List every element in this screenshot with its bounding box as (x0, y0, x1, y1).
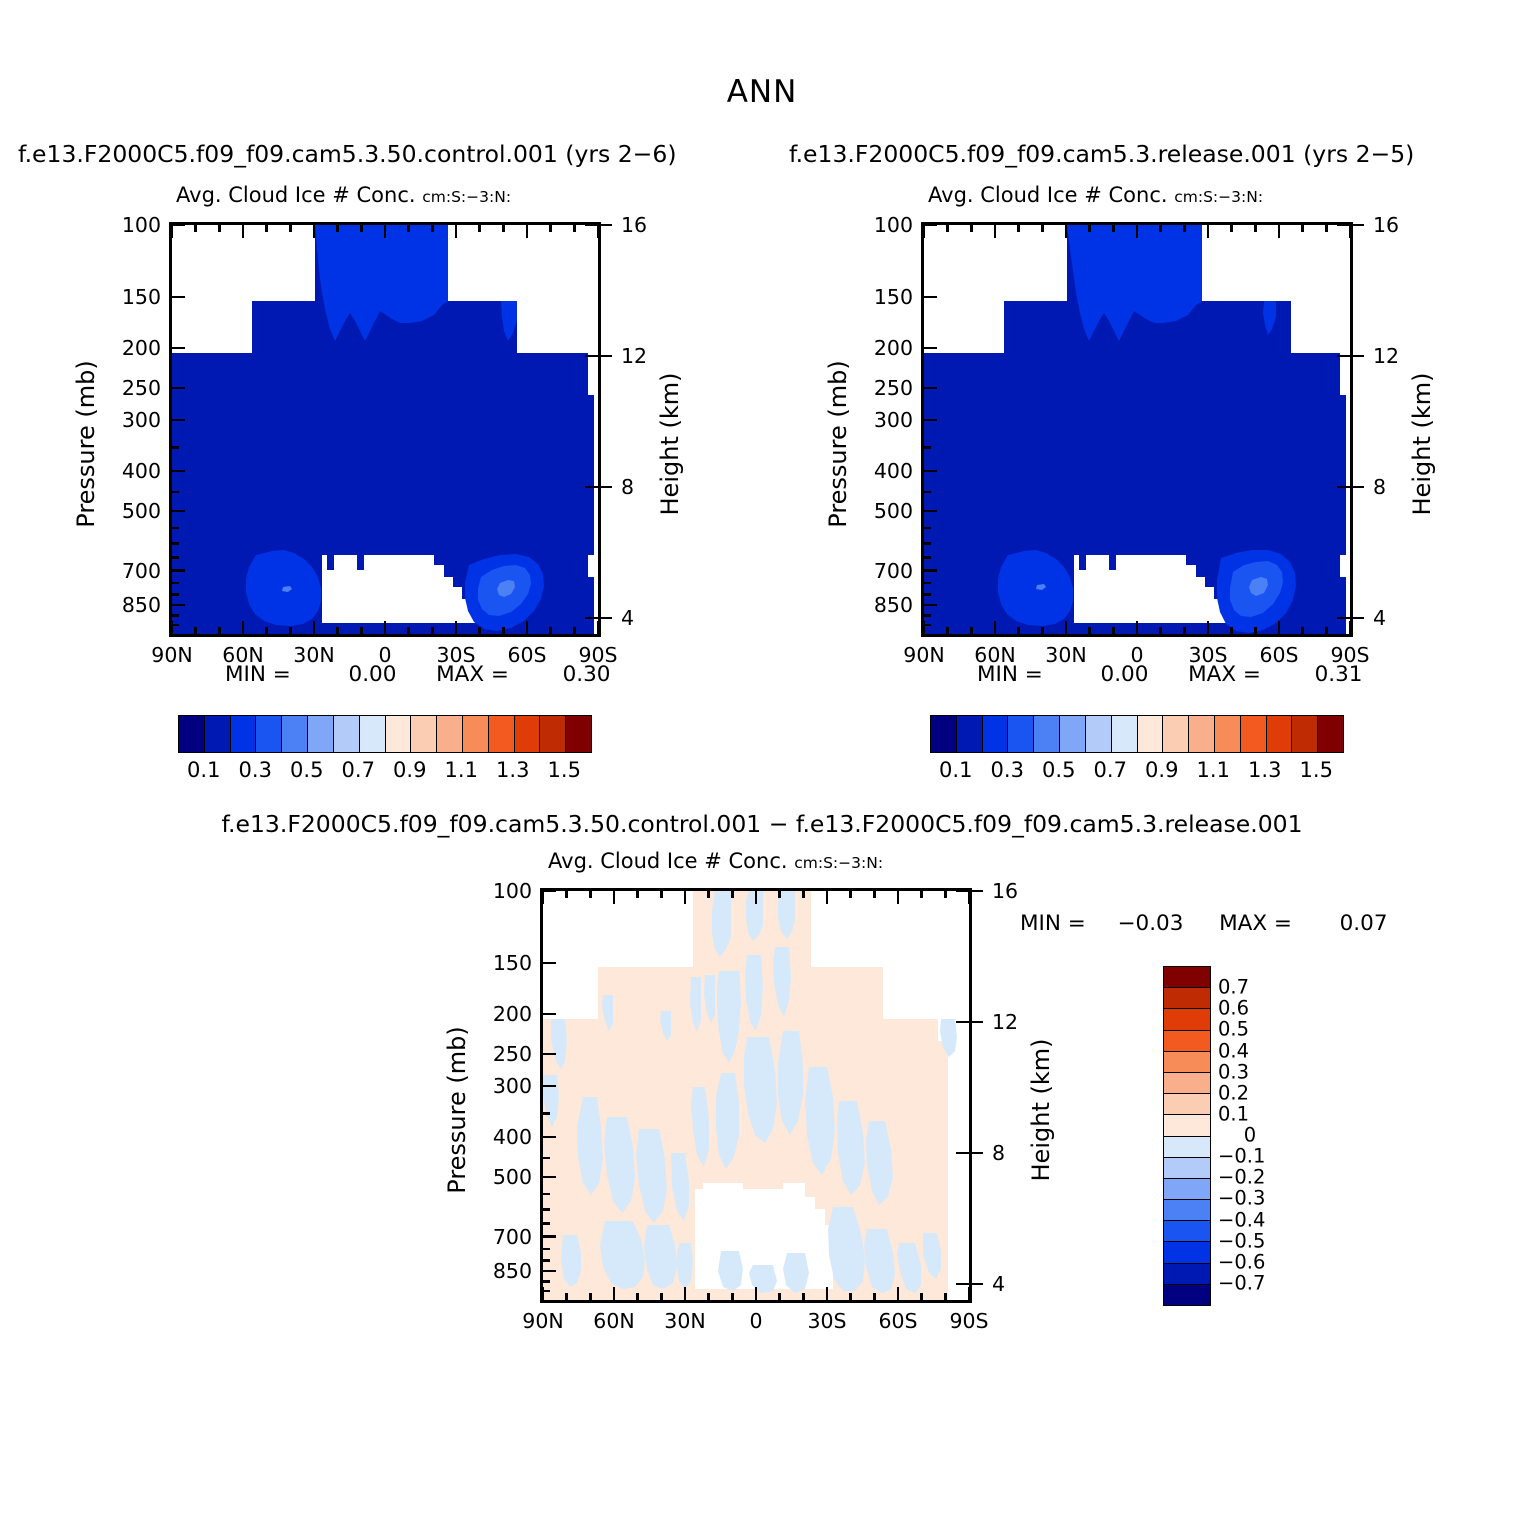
control-colorbar-cell[interactable] (463, 716, 489, 752)
right-panel-max-value: 0.31 (1315, 662, 1363, 687)
left-panel-minmax: MIN = 0.00 MAX = 0.30 (225, 662, 610, 687)
control-colorbar-tick-label: 1.1 (445, 758, 478, 782)
control-pressure-tick-label: 850 (103, 593, 161, 617)
x-tick-top (1159, 225, 1162, 232)
right-panel-y2-axis-label: Height (km) (1408, 344, 1436, 544)
y-tick-left (924, 527, 931, 530)
diff-panel-max-label: MAX = (1219, 911, 1292, 936)
y-tick-left (543, 1259, 550, 1262)
x-tick-top (1041, 225, 1044, 232)
x-tick-bot (826, 1287, 829, 1300)
x-tick-bot (897, 1287, 900, 1300)
difference-pressure-tick-label: 250 (474, 1042, 532, 1066)
control-colorbar-cell[interactable] (334, 716, 360, 752)
difference-colorbar-tick-label: −0.1 (1218, 1145, 1308, 1168)
release-colorbar-tick-label: 0.5 (1042, 758, 1075, 782)
difference-colorbar-cell[interactable] (1164, 1158, 1210, 1179)
x-tick-top (289, 225, 292, 232)
x-tick-top (1112, 225, 1115, 232)
diff-panel-variable-title: Avg. Cloud Ice # Conc. (548, 849, 788, 873)
release-colorbar-cell[interactable] (1112, 716, 1138, 752)
y-tick-left (172, 224, 185, 227)
difference-colorbar-cell[interactable] (1164, 1009, 1210, 1030)
difference-colorbar-tick-label: 0.4 (1218, 1039, 1308, 1062)
x-tick-top (1207, 225, 1210, 238)
y-tick-right-outer (598, 617, 612, 620)
y-tick-left (172, 387, 185, 390)
difference-pressure-tick-label: 400 (474, 1125, 532, 1149)
x-tick-bot (636, 1293, 639, 1300)
difference-colorbar-cell[interactable] (1164, 1052, 1210, 1073)
diff-panel-subtitle: Avg. Cloud Ice # Conc. cm:S:−3:N: (548, 849, 883, 873)
y-tick-left (543, 1280, 550, 1283)
difference-lat-tick-label: 0 (749, 1309, 762, 1333)
release-colorbar-cell[interactable] (1189, 716, 1215, 752)
x-tick-top (944, 891, 947, 898)
release-height-tick-label: 16 (1373, 213, 1399, 237)
difference-height-tick-label: 8 (992, 1141, 1005, 1165)
control-colorbar-cell[interactable] (437, 716, 463, 752)
x-tick-bot (707, 1293, 710, 1300)
x-tick-bot (1136, 621, 1139, 634)
x-tick-top (589, 891, 592, 898)
x-tick-bot (944, 1293, 947, 1300)
colorbar-control[interactable] (178, 715, 592, 753)
difference-colorbar-tick-label: −0.3 (1218, 1187, 1308, 1210)
difference-pressure-tick-label: 500 (474, 1165, 532, 1189)
release-pressure-tick-label: 200 (855, 336, 913, 360)
x-tick-bot (1065, 621, 1068, 634)
x-tick-top (549, 225, 552, 232)
y-tick-right-outer (969, 1283, 983, 1286)
control-colorbar-tick-label: 0.3 (239, 758, 272, 782)
control-colorbar-cell[interactable] (231, 716, 257, 752)
y-tick-left (543, 1222, 550, 1225)
difference-colorbar-tick-label: −0.6 (1218, 1250, 1308, 1273)
y-tick-left (924, 387, 937, 390)
release-pressure-tick-label: 850 (855, 593, 913, 617)
x-tick-top (265, 225, 268, 232)
x-tick-bot (778, 1293, 781, 1300)
y-tick-left (172, 419, 185, 422)
diff-panel-min-label: MIN = (1020, 911, 1086, 936)
colorbar-difference-labels: 0.70.60.50.40.30.20.10−0.1−0.2−0.3−0.4−0… (1218, 966, 1308, 1304)
y-tick-left (924, 224, 937, 227)
difference-colorbar-tick-label: −0.7 (1218, 1271, 1308, 1294)
y-tick-right (585, 617, 598, 620)
x-tick-bot (384, 621, 387, 634)
control-colorbar-tick-label: 0.1 (187, 758, 220, 782)
x-tick-top (194, 225, 197, 232)
difference-pressure-tick-label: 100 (474, 879, 532, 903)
y-tick-left (924, 296, 937, 299)
release-colorbar-cell[interactable] (1086, 716, 1112, 752)
x-tick-bot (455, 621, 458, 634)
y-tick-right-outer (969, 1021, 983, 1024)
difference-colorbar-tick-label: 0.5 (1218, 1018, 1308, 1041)
x-tick-top (970, 225, 973, 232)
release-colorbar-cell[interactable] (1215, 716, 1241, 752)
release-lat-tick-label: 90N (903, 643, 944, 667)
control-colorbar-tick-label: 1.3 (496, 758, 529, 782)
x-tick-top (242, 225, 245, 238)
y-tick-left (172, 614, 179, 617)
release-colorbar-cell[interactable] (1318, 716, 1343, 752)
release-pressure-tick-label: 400 (855, 459, 913, 483)
release-colorbar-cell[interactable] (983, 716, 1009, 752)
x-tick-bot (597, 621, 600, 634)
right-panel-max-label: MAX = (1188, 662, 1261, 687)
difference-height-tick-label: 16 (992, 879, 1018, 903)
right-panel-subtitle: Avg. Cloud Ice # Conc. cm:S:−3:N: (928, 183, 1263, 207)
difference-colorbar-cell[interactable] (1164, 1264, 1210, 1285)
control-pressure-tick-label: 500 (103, 499, 161, 523)
release-colorbar-cell[interactable] (1241, 716, 1267, 752)
control-pressure-tick-label: 150 (103, 285, 161, 309)
y-tick-left (543, 1112, 550, 1115)
y-tick-left (543, 1248, 550, 1251)
x-tick-bot (1207, 621, 1210, 634)
x-tick-top (218, 225, 221, 232)
difference-colorbar-cell[interactable] (1164, 1200, 1210, 1221)
x-tick-top (923, 225, 926, 238)
difference-pressure-tick-label: 150 (474, 951, 532, 975)
control-pressure-tick-label: 100 (103, 213, 161, 237)
difference-colorbar-cell[interactable] (1164, 1094, 1210, 1115)
x-tick-top (684, 891, 687, 904)
difference-colorbar-cell[interactable] (1164, 1242, 1210, 1263)
y-tick-left (924, 347, 937, 350)
y-tick-left (543, 1235, 556, 1238)
left-panel-max-value: 0.30 (563, 662, 611, 687)
x-tick-bot (289, 627, 292, 634)
difference-pressure-tick-label: 850 (474, 1259, 532, 1283)
difference-colorbar-cell[interactable] (1164, 1285, 1210, 1305)
x-tick-bot (946, 627, 949, 634)
release-height-tick-label: 4 (1373, 606, 1386, 630)
control-colorbar-cell[interactable] (205, 716, 231, 752)
x-tick-top (1017, 225, 1020, 232)
x-tick-bot (1183, 627, 1186, 634)
x-tick-bot (1325, 627, 1328, 634)
control-colorbar-cell[interactable] (489, 716, 515, 752)
y-tick-left (172, 527, 179, 530)
panel-difference-axes (540, 888, 972, 1303)
release-colorbar-tick-label: 1.5 (1300, 758, 1333, 782)
control-colorbar-cell[interactable] (411, 716, 437, 752)
right-panel-variable-units: cm:S:−3:N: (1174, 188, 1263, 206)
control-pressure-tick-label: 300 (103, 408, 161, 432)
difference-colorbar-cell[interactable] (1164, 1073, 1210, 1094)
diff-panel-y-axis-label: Pressure (mb) (443, 1010, 471, 1210)
difference-colorbar-tick-label: 0.3 (1218, 1060, 1308, 1083)
left-panel-max-label: MAX = (436, 662, 509, 687)
release-pressure-tick-label: 300 (855, 408, 913, 432)
y-tick-right (956, 1152, 969, 1155)
control-colorbar-cell[interactable] (360, 716, 386, 752)
x-tick-bot (1112, 627, 1115, 634)
x-tick-bot (968, 1287, 971, 1300)
diff-panel-minmax: MIN = −0.03 MAX = 0.07 (1020, 911, 1388, 936)
control-pressure-tick-label: 200 (103, 336, 161, 360)
x-tick-bot (684, 1287, 687, 1300)
y-tick-left (543, 1136, 556, 1139)
difference-lat-tick-label: 90S (949, 1309, 988, 1333)
release-pressure-tick-label: 500 (855, 499, 913, 523)
y-tick-left (543, 1176, 556, 1179)
release-colorbar-cell[interactable] (1138, 716, 1164, 752)
y-tick-left (543, 1085, 556, 1088)
x-tick-top (968, 891, 971, 904)
y-tick-right-outer (1350, 224, 1364, 227)
release-colorbar-tick-label: 0.1 (939, 758, 972, 782)
control-colorbar-tick-label: 0.5 (290, 758, 323, 782)
x-tick-top (849, 891, 852, 898)
difference-colorbar-tick-label: −0.4 (1218, 1208, 1308, 1231)
x-tick-bot (194, 627, 197, 634)
difference-lat-tick-label: 60N (593, 1309, 634, 1333)
x-tick-top (542, 891, 545, 904)
x-tick-bot (1230, 627, 1233, 634)
y-tick-left (172, 446, 179, 449)
y-tick-left (172, 569, 185, 572)
x-tick-bot (1278, 621, 1281, 634)
y-tick-left (543, 1053, 556, 1056)
x-tick-top (1183, 225, 1186, 232)
y-tick-right-outer (598, 355, 612, 358)
right-panel-min-value: 0.00 (1101, 662, 1149, 687)
control-height-tick-label: 4 (621, 606, 634, 630)
control-height-tick-label: 8 (621, 475, 634, 499)
colorbar-release-labels: 0.10.30.50.70.91.11.31.5 (930, 758, 1342, 786)
x-tick-bot (526, 621, 529, 634)
panel-release: 10015020025030040050070085016128490N60N3… (921, 222, 1353, 637)
y-tick-left (172, 556, 179, 559)
y-tick-right-outer (969, 1152, 983, 1155)
panel-release-axes (921, 222, 1353, 637)
control-colorbar-cell[interactable] (386, 716, 412, 752)
y-tick-right (585, 224, 598, 227)
release-colorbar-cell[interactable] (1060, 716, 1086, 752)
release-height-tick-label: 8 (1373, 475, 1386, 499)
x-tick-bot (873, 1293, 876, 1300)
diff-panel-y2-axis-label: Height (km) (1027, 1010, 1055, 1210)
difference-colorbar-cell[interactable] (1164, 1031, 1210, 1052)
diff-panel-min-value: −0.03 (1118, 911, 1184, 936)
difference-height-tick-label: 4 (992, 1272, 1005, 1296)
x-tick-top (731, 891, 734, 898)
y-tick-left (172, 470, 185, 473)
x-tick-top (897, 891, 900, 904)
y-tick-left (924, 446, 931, 449)
difference-lat-tick-label: 30S (807, 1309, 846, 1333)
difference-colorbar-cell[interactable] (1164, 1137, 1210, 1158)
x-tick-bot (313, 621, 316, 634)
left-panel-variable-title: Avg. Cloud Ice # Conc. (176, 183, 416, 207)
difference-colorbar-tick-label: 0.2 (1218, 1081, 1308, 1104)
diff-panel-case-title: f.e13.F2000C5.f09_f09.cam5.3.50.control.… (0, 810, 1524, 838)
difference-colorbar-tick-label: 0.7 (1218, 976, 1308, 999)
control-colorbar-cell[interactable] (308, 716, 334, 752)
x-tick-bot (502, 627, 505, 634)
y-tick-right-outer (1350, 486, 1364, 489)
release-colorbar-cell[interactable] (931, 716, 957, 752)
difference-colorbar-cell[interactable] (1164, 1115, 1210, 1136)
x-tick-bot (1254, 627, 1257, 634)
x-tick-bot (265, 627, 268, 634)
right-panel-y-axis-label: Pressure (mb) (824, 344, 852, 544)
x-tick-bot (336, 627, 339, 634)
control-colorbar-cell[interactable] (566, 716, 591, 752)
panel-difference: 10015020025030040050070085016128490N60N3… (540, 888, 972, 1303)
x-tick-bot (1349, 621, 1352, 634)
x-tick-top (636, 891, 639, 898)
difference-colorbar-cell[interactable] (1164, 967, 1210, 988)
y-tick-left (172, 347, 185, 350)
x-tick-top (1278, 225, 1281, 238)
y-tick-left (172, 624, 179, 627)
y-tick-left (924, 470, 937, 473)
right-panel-minmax: MIN = 0.00 MAX = 0.31 (977, 662, 1362, 687)
y-tick-left (172, 510, 185, 513)
x-tick-bot (660, 1293, 663, 1300)
x-tick-top (502, 225, 505, 232)
left-panel-y-axis-label: Pressure (mb) (72, 344, 100, 544)
x-tick-bot (242, 621, 245, 634)
x-tick-top (873, 891, 876, 898)
x-tick-top (407, 225, 410, 232)
diff-panel-variable-units: cm:S:−3:N: (794, 854, 883, 872)
release-colorbar-cell[interactable] (1008, 716, 1034, 752)
control-colorbar-cell[interactable] (515, 716, 541, 752)
x-tick-top (613, 891, 616, 904)
release-pressure-tick-label: 250 (855, 376, 913, 400)
difference-colorbar-tick-label: 0.6 (1218, 997, 1308, 1020)
panel-control: 10015020025030040050070085016128490N60N3… (169, 222, 601, 637)
control-lat-tick-label: 90N (151, 643, 192, 667)
release-colorbar-tick-label: 1.3 (1248, 758, 1281, 782)
y-tick-left (543, 1013, 556, 1016)
control-colorbar-cell[interactable] (540, 716, 566, 752)
left-panel-case-title: f.e13.F2000C5.f09_f09.cam5.3.50.control.… (18, 140, 676, 168)
y-tick-left (924, 582, 931, 585)
release-colorbar-cell[interactable] (1034, 716, 1060, 752)
panel-release-contour-field (924, 225, 1353, 637)
x-tick-top (778, 891, 781, 898)
left-panel-min-label: MIN = (225, 662, 291, 687)
y-tick-right-outer (969, 890, 983, 893)
difference-colorbar-cell[interactable] (1164, 1179, 1210, 1200)
y-tick-right (1337, 224, 1350, 227)
y-tick-right (585, 355, 598, 358)
difference-lat-tick-label: 30N (664, 1309, 705, 1333)
y-tick-left (543, 1270, 556, 1273)
x-tick-top (660, 891, 663, 898)
x-tick-top (1349, 225, 1352, 238)
right-panel-variable-title: Avg. Cloud Ice # Conc. (928, 183, 1168, 207)
x-tick-top (1325, 225, 1328, 232)
left-panel-min-value: 0.00 (349, 662, 397, 687)
x-tick-top (313, 225, 316, 238)
x-tick-bot (1301, 627, 1304, 634)
y-tick-left (924, 491, 931, 494)
x-tick-bot (849, 1293, 852, 1300)
y-tick-left (924, 542, 931, 545)
y-tick-left (543, 1157, 550, 1160)
y-tick-right (1337, 486, 1350, 489)
x-tick-top (946, 225, 949, 232)
right-panel-case-title: f.e13.F2000C5.f09_f09.cam5.3.release.001… (789, 140, 1414, 168)
y-tick-left (172, 604, 185, 607)
x-tick-top (1065, 225, 1068, 238)
control-colorbar-cell[interactable] (179, 716, 205, 752)
x-tick-bot (573, 627, 576, 634)
y-tick-left (172, 582, 179, 585)
control-colorbar-tick-label: 0.9 (393, 758, 426, 782)
x-tick-bot (478, 627, 481, 634)
difference-colorbar-cell[interactable] (1164, 988, 1210, 1009)
y-tick-left (924, 556, 931, 559)
release-colorbar-tick-label: 0.9 (1145, 758, 1178, 782)
x-tick-top (1136, 225, 1139, 238)
y-tick-left (172, 542, 179, 545)
x-tick-top (994, 225, 997, 238)
release-colorbar-cell[interactable] (1267, 716, 1293, 752)
x-tick-bot (755, 1287, 758, 1300)
x-tick-bot (1017, 627, 1020, 634)
x-tick-bot (549, 627, 552, 634)
y-tick-right (1337, 617, 1350, 620)
y-tick-right (585, 486, 598, 489)
y-tick-right (1337, 355, 1350, 358)
y-tick-left (543, 1290, 550, 1293)
x-tick-bot (360, 627, 363, 634)
difference-colorbar-cell[interactable] (1164, 1221, 1210, 1242)
release-colorbar-cell[interactable] (957, 716, 983, 752)
x-tick-top (755, 891, 758, 904)
control-colorbar-cell[interactable] (256, 716, 282, 752)
x-tick-top (526, 225, 529, 238)
x-tick-top (360, 225, 363, 232)
x-tick-top (920, 891, 923, 898)
x-tick-bot (407, 627, 410, 634)
y-tick-left (924, 419, 937, 422)
x-tick-top (565, 891, 568, 898)
release-colorbar-cell[interactable] (1163, 716, 1189, 752)
x-tick-top (597, 225, 600, 238)
y-tick-left (924, 569, 937, 572)
left-panel-variable-units: cm:S:−3:N: (422, 188, 511, 206)
control-height-tick-label: 12 (621, 344, 647, 368)
y-tick-left (543, 1193, 550, 1196)
x-tick-bot (731, 1293, 734, 1300)
colorbar-difference[interactable] (1163, 966, 1211, 1306)
left-panel-subtitle: Avg. Cloud Ice # Conc. cm:S:−3:N: (176, 183, 511, 207)
y-tick-left (924, 604, 937, 607)
control-colorbar-tick-label: 1.5 (548, 758, 581, 782)
control-colorbar-cell[interactable] (282, 716, 308, 752)
colorbar-release[interactable] (930, 715, 1344, 753)
y-tick-left (172, 491, 179, 494)
y-tick-left (924, 510, 937, 513)
right-panel-min-label: MIN = (977, 662, 1043, 687)
x-tick-top (171, 225, 174, 238)
release-colorbar-cell[interactable] (1292, 716, 1318, 752)
difference-pressure-tick-label: 700 (474, 1225, 532, 1249)
x-tick-top (802, 891, 805, 898)
release-colorbar-tick-label: 0.3 (991, 758, 1024, 782)
y-tick-right (956, 890, 969, 893)
